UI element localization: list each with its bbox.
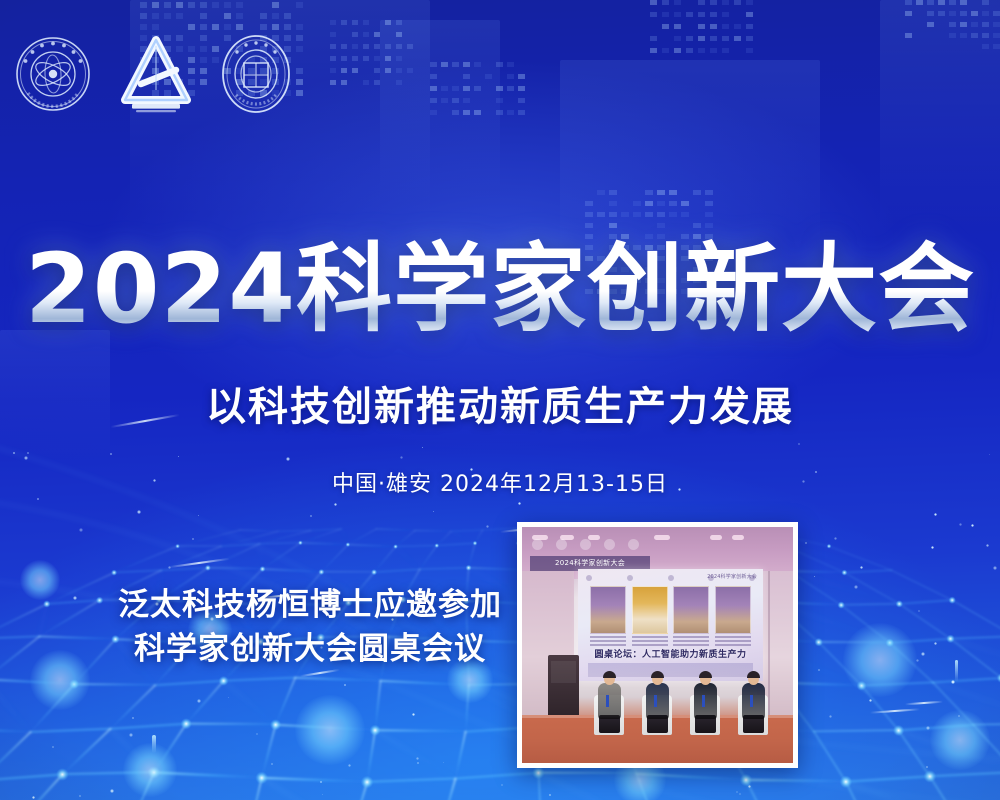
- background-window-block: [949, 22, 956, 27]
- background-window-block: [518, 74, 525, 79]
- subtitle: 以科技创新推动新质生产力发展: [0, 382, 1000, 432]
- background-window-block: [352, 68, 358, 73]
- mesh-node: [896, 600, 903, 607]
- background-building-mass: [560, 60, 820, 260]
- background-window-block: [407, 44, 413, 49]
- background-window-block: [463, 62, 470, 67]
- background-window-block: [374, 32, 380, 37]
- background-window-block: [734, 24, 741, 29]
- background-window-block: [722, 48, 729, 53]
- background-window-block: [188, 24, 195, 30]
- screen-title: 2024科学家创新大会: [707, 573, 757, 580]
- background-window-block: [645, 201, 653, 206]
- background-window-block: [686, 48, 693, 53]
- background-window-block: [993, 22, 1000, 27]
- background-window-block: [363, 20, 369, 25]
- background-window-block: [982, 22, 989, 27]
- background-window-block: [385, 56, 391, 61]
- background-window-block: [698, 24, 705, 29]
- mesh-sparkle: [739, 793, 741, 795]
- background-window-block: [710, 0, 717, 5]
- background-window-block: [609, 190, 617, 195]
- background-window-block: [518, 86, 525, 91]
- background-window-block: [507, 110, 514, 115]
- background-window-block: [971, 11, 978, 16]
- mesh-node: [946, 635, 955, 644]
- mesh-sparkle: [13, 452, 15, 454]
- background-window-block: [212, 2, 219, 8]
- background-window-block: [693, 190, 701, 195]
- background-window-block: [621, 212, 629, 217]
- conference-poster: 2024科学家创新大会 2024科学家创新大会 以科技创新推动新质生产力发展 中…: [0, 0, 1000, 800]
- background-window-block: [705, 212, 713, 217]
- mesh-sparkle: [918, 610, 920, 612]
- background-window-block: [330, 44, 336, 49]
- portrait-caption: [590, 636, 626, 646]
- mesh-node: [346, 542, 351, 547]
- background-window-block: [452, 98, 459, 103]
- background-window-block: [164, 13, 171, 19]
- background-window-block: [518, 110, 525, 115]
- background-window-block: [176, 2, 183, 8]
- background-window-block: [212, 24, 219, 30]
- background-window-block: [352, 56, 358, 61]
- background-window-block: [152, 24, 159, 30]
- screen-portrait: [673, 586, 709, 646]
- screen-portrait: [590, 586, 626, 646]
- background-window-block: [272, 13, 279, 19]
- mesh-node: [148, 766, 161, 779]
- panelist-badge: [654, 695, 657, 707]
- portrait-image: [673, 586, 709, 634]
- background-window-block: [507, 86, 514, 91]
- background-window-block: [938, 11, 945, 16]
- mesh-sparkle: [926, 726, 930, 730]
- background-window-block: [330, 80, 336, 85]
- portrait-image: [715, 586, 751, 634]
- background-window-block: [236, 24, 243, 30]
- background-window-block: [430, 98, 437, 103]
- mesh-node: [841, 570, 847, 576]
- background-window-block: [272, 2, 279, 8]
- mesh-node: [466, 565, 472, 571]
- background-window-block: [645, 212, 653, 217]
- event-photo: 2024科学家创新大会 2024科学家创新大会: [522, 527, 793, 763]
- mesh-sparkle: [73, 596, 77, 600]
- background-window-block: [341, 68, 347, 73]
- panelist-torso: [694, 683, 717, 719]
- background-window-block: [507, 62, 514, 67]
- mesh-node: [255, 772, 268, 785]
- caption-line-1: 泛太科技杨恒博士应邀参加: [100, 583, 520, 627]
- photo-ceiling-light: [710, 535, 722, 540]
- background-window-block: [224, 24, 231, 30]
- background-window-block: [982, 0, 989, 5]
- background-window-block: [200, 2, 207, 8]
- background-window-block: [960, 0, 967, 5]
- background-window-block: [260, 13, 267, 19]
- photo-podium: [548, 655, 579, 719]
- mesh-sparkle: [286, 457, 290, 461]
- background-window-block: [164, 2, 171, 8]
- mesh-node: [111, 570, 117, 576]
- background-window-block: [200, 13, 207, 19]
- background-window-block: [710, 48, 717, 53]
- background-window-block: [463, 110, 470, 115]
- background-window-block: [407, 68, 413, 73]
- mesh-sparkle: [416, 757, 419, 760]
- background-window-block: [585, 212, 593, 217]
- panelist-badge: [750, 695, 753, 707]
- background-window-block: [296, 35, 303, 41]
- background-window-block: [993, 11, 1000, 16]
- mesh-node: [219, 676, 229, 686]
- background-window-block: [938, 0, 945, 5]
- background-window-block: [585, 201, 593, 206]
- main-title: 2024科学家创新大会: [0, 236, 1000, 342]
- background-window-block: [296, 68, 303, 74]
- background-window-block: [746, 36, 753, 41]
- background-window-block: [284, 24, 291, 30]
- background-window-block: [746, 48, 753, 53]
- background-window-block: [296, 79, 303, 85]
- photo-panelist: [690, 671, 721, 733]
- mesh-node: [43, 600, 50, 607]
- triangle-logo-center: [120, 34, 192, 114]
- screen-icon: [627, 575, 633, 581]
- background-window-block: [272, 24, 279, 30]
- panelist-torso: [598, 683, 621, 719]
- background-window-block: [452, 110, 459, 115]
- background-window-block: [597, 212, 605, 217]
- background-window-block: [374, 44, 380, 49]
- background-window-block: [927, 11, 934, 16]
- background-window-block: [140, 2, 147, 8]
- background-window-block: [363, 80, 369, 85]
- background-window-block: [927, 22, 934, 27]
- background-window-block: [236, 2, 243, 8]
- mesh-sparkle: [110, 453, 112, 455]
- background-window-block: [949, 33, 956, 38]
- mesh-node: [56, 768, 69, 781]
- background-window-block: [363, 56, 369, 61]
- background-window-block: [650, 0, 657, 5]
- background-window-block: [374, 80, 380, 85]
- background-window-block: [674, 24, 681, 29]
- background-window-block: [722, 24, 729, 29]
- background-window-block: [224, 2, 231, 8]
- background-window-block: [224, 13, 231, 19]
- photo-banner-icon-row: [532, 539, 639, 550]
- caption-line-2: 科学家创新大会圆桌会议: [100, 627, 520, 671]
- background-window-block: [657, 201, 665, 206]
- background-window-block: [645, 190, 653, 195]
- background-window-block: [722, 12, 729, 17]
- background-window-block: [982, 11, 989, 16]
- background-window-block: [363, 44, 369, 49]
- mesh-sparkle: [958, 715, 960, 717]
- background-window-block: [650, 36, 657, 41]
- background-window-block: [452, 62, 459, 67]
- banner-icon: [556, 539, 567, 550]
- mesh-node: [205, 565, 211, 571]
- background-window-block: [609, 212, 617, 217]
- background-window-block: [296, 46, 303, 52]
- background-window-block: [352, 44, 358, 49]
- background-window-block: [597, 190, 605, 195]
- background-window-block: [982, 44, 989, 49]
- event-photo-frame: 2024科学家创新大会 2024科学家创新大会: [517, 522, 798, 768]
- screen-headline: 圆桌论坛：人工智能助力新质生产力: [578, 647, 763, 660]
- background-window-block: [905, 0, 912, 5]
- background-window-block: [698, 36, 705, 41]
- background-window-block: [662, 0, 669, 5]
- background-window-block: [341, 20, 347, 25]
- mesh-node: [827, 544, 832, 549]
- screen-portrait-row: [590, 586, 751, 646]
- background-window-block: [734, 36, 741, 41]
- background-window-block: [650, 12, 657, 17]
- background-window-block: [657, 212, 665, 217]
- background-window-block: [385, 44, 391, 49]
- background-window-block: [710, 36, 717, 41]
- background-window-block: [188, 2, 195, 8]
- background-window-block: [463, 86, 470, 91]
- background-window-block: [200, 24, 207, 30]
- mesh-sparkle: [417, 762, 419, 764]
- background-window-block: [650, 48, 657, 53]
- mesh-node: [393, 544, 398, 549]
- photo-panelist: [594, 671, 625, 733]
- background-window-block: [669, 190, 677, 195]
- background-window-block: [722, 0, 729, 5]
- mesh-node: [814, 638, 823, 647]
- background-window-block: [441, 62, 448, 67]
- banner-icon: [532, 539, 543, 550]
- mesh-sparkle: [27, 452, 29, 454]
- background-window-block: [396, 80, 402, 85]
- background-window-block: [430, 86, 437, 91]
- background-window-block: [698, 48, 705, 53]
- sponsor-logo-row: [14, 33, 292, 115]
- background-window-block: [396, 68, 402, 73]
- background-window-block: [705, 190, 713, 195]
- background-window-block: [474, 86, 481, 91]
- mesh-sparkle: [518, 502, 521, 505]
- background-window-block: [949, 11, 956, 16]
- seal-logo-right: [220, 33, 292, 115]
- background-window-block: [463, 74, 470, 79]
- mesh-sparkle: [748, 785, 751, 788]
- mesh-node: [924, 770, 937, 783]
- panelist-hair: [603, 671, 616, 678]
- mesh-sparkle: [344, 684, 346, 686]
- background-window-block: [341, 44, 347, 49]
- background-window-block: [396, 44, 402, 49]
- photo-panelist: [738, 671, 769, 733]
- background-window-block: [710, 24, 717, 29]
- mesh-node: [371, 569, 377, 575]
- background-window-block: [430, 62, 437, 67]
- mesh-sparkle: [798, 443, 800, 445]
- background-window-block: [441, 98, 448, 103]
- photo-panelist: [642, 671, 673, 733]
- background-window-block: [341, 56, 347, 61]
- background-window-block: [363, 32, 369, 37]
- mesh-node: [473, 541, 478, 546]
- mesh-sparkle: [951, 680, 955, 684]
- panelist-hair: [747, 671, 760, 678]
- photo-ceiling-light: [732, 535, 744, 540]
- background-window-block: [396, 32, 402, 37]
- mesh-sparkle: [348, 764, 351, 767]
- background-window-block: [633, 201, 641, 206]
- background-window-block: [396, 56, 402, 61]
- background-window-block: [496, 110, 503, 115]
- mesh-node: [298, 541, 303, 546]
- background-window-block: [260, 24, 267, 30]
- panelist-torso: [742, 683, 765, 719]
- background-window-block: [905, 33, 912, 38]
- mesh-node: [181, 718, 192, 729]
- background-window-block: [430, 74, 437, 79]
- photo-projection-screen: 2024科学家创新大会: [578, 569, 763, 681]
- background-window-block: [463, 98, 470, 103]
- background-window-block: [657, 190, 665, 195]
- mesh-node: [175, 544, 180, 549]
- banner-icon: [580, 539, 591, 550]
- background-window-block: [674, 48, 681, 53]
- mesh-node: [435, 543, 440, 548]
- mesh-node: [893, 725, 904, 736]
- background-window-block: [485, 74, 492, 79]
- screen-icon: [586, 575, 592, 581]
- mesh-sparkle: [52, 746, 54, 748]
- background-window-block: [746, 0, 753, 5]
- mesh-node: [69, 679, 79, 689]
- background-window-block: [341, 80, 347, 85]
- mesh-node: [532, 767, 545, 780]
- background-window-block: [710, 12, 717, 17]
- mesh-sparkle: [486, 525, 489, 528]
- background-window-block: [971, 33, 978, 38]
- banner-icon: [604, 539, 615, 550]
- mesh-sparkle: [412, 713, 415, 716]
- panelist-hair: [651, 671, 664, 678]
- background-window-block: [681, 212, 689, 217]
- background-window-block: [746, 12, 753, 17]
- background-window-block: [949, 0, 956, 5]
- background-window-block: [441, 86, 448, 91]
- mesh-node: [270, 719, 281, 730]
- background-window-block: [296, 24, 303, 30]
- background-window-block: [585, 223, 593, 228]
- background-window-block: [705, 201, 713, 206]
- caption-block: 泛太科技杨恒博士应邀参加 科学家创新大会圆桌会议: [100, 583, 520, 671]
- background-window-block: [140, 24, 147, 30]
- background-window-block: [507, 74, 514, 79]
- mesh-sparkle: [869, 699, 872, 702]
- mesh-sparkle: [192, 538, 194, 540]
- mesh-sparkle: [986, 544, 989, 547]
- background-window-block: [686, 36, 693, 41]
- background-window-block: [152, 13, 159, 19]
- background-window-block: [693, 223, 701, 228]
- background-window-block: [374, 68, 380, 73]
- background-window-block: [905, 11, 912, 16]
- background-window-block: [474, 62, 481, 67]
- background-window-block: [674, 12, 681, 17]
- background-window-block: [496, 98, 503, 103]
- screen-icon: [668, 575, 674, 581]
- mesh-node: [260, 566, 266, 572]
- portrait-caption: [632, 636, 668, 646]
- background-window-block: [698, 0, 705, 5]
- background-window-block: [960, 33, 967, 38]
- background-window-block: [330, 56, 336, 61]
- background-window-block: [385, 68, 391, 73]
- background-window-block: [982, 33, 989, 38]
- panelist-hair: [699, 671, 712, 678]
- background-window-block: [971, 22, 978, 27]
- mesh-sparkle: [926, 766, 928, 768]
- seal-logo-left: [14, 35, 92, 113]
- background-window-block: [140, 13, 147, 19]
- background-window-block: [669, 201, 677, 206]
- background-window-block: [518, 98, 525, 103]
- background-window-block: [396, 20, 402, 25]
- panelist-badge: [702, 695, 705, 707]
- background-window-block: [960, 11, 967, 16]
- panelist-badge: [606, 695, 609, 707]
- mesh-node: [949, 597, 956, 604]
- background-window-block: [669, 212, 677, 217]
- background-window-block: [662, 12, 669, 17]
- panelist-torso: [646, 683, 669, 719]
- portrait-caption: [715, 636, 751, 646]
- background-window-block: [993, 44, 1000, 49]
- background-window-block: [296, 2, 303, 8]
- background-window-block: [662, 24, 669, 29]
- background-window-block: [722, 36, 729, 41]
- background-window-block: [330, 68, 336, 73]
- date-location-line: 中国·雄安 2024年12月13-15日: [0, 470, 1000, 500]
- background-window-block: [657, 223, 665, 228]
- background-window-block: [474, 110, 481, 115]
- background-window-block: [734, 0, 741, 5]
- background-window-block: [960, 22, 967, 27]
- background-window-block: [496, 86, 503, 91]
- background-window-block: [385, 20, 391, 25]
- background-window-block: [609, 201, 617, 206]
- mesh-node: [369, 725, 380, 736]
- background-window-block: [330, 20, 336, 25]
- background-window-block: [236, 13, 243, 19]
- background-window-block: [698, 12, 705, 17]
- mesh-node: [361, 776, 374, 789]
- background-window-block: [152, 2, 159, 8]
- background-window-block: [705, 223, 713, 228]
- mesh-node: [318, 569, 324, 575]
- background-window-block: [916, 0, 923, 5]
- background-window-block: [430, 110, 437, 115]
- portrait-caption: [673, 636, 709, 646]
- mesh-node: [857, 681, 867, 691]
- banner-icon: [628, 539, 639, 550]
- background-window-block: [330, 32, 336, 37]
- background-window-block: [296, 90, 303, 96]
- screen-portrait: [632, 586, 668, 646]
